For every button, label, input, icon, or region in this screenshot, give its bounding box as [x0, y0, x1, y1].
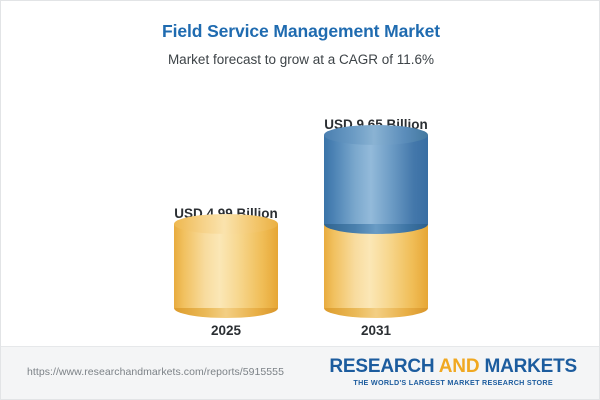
- bar-group-2031[interactable]: USD 9.65 Billion 2031: [296, 76, 456, 346]
- plot-area: USD 4.99 Billion 2025 USD 9.65 Billion: [1, 76, 600, 346]
- logo-tagline: THE WORLD'S LARGEST MARKET RESEARCH STOR…: [329, 378, 577, 387]
- logo-wordmark: RESEARCH AND MARKETS: [329, 357, 577, 377]
- cylinder-body-2025: [174, 224, 278, 308]
- logo-word-markets: MARKETS: [484, 356, 577, 377]
- category-label-2031: 2031: [296, 323, 456, 338]
- cylinder-bar-2025[interactable]: [174, 214, 278, 308]
- footer: https://www.researchandmarkets.com/repor…: [1, 346, 599, 399]
- logo-word-and: AND: [439, 356, 480, 377]
- cylinder-top-cap-2031: [324, 125, 428, 145]
- cylinder-segment-growth-2031: [324, 125, 428, 224]
- research-and-markets-logo[interactable]: RESEARCH AND MARKETS THE WORLD'S LARGEST…: [329, 357, 577, 387]
- report-url[interactable]: https://www.researchandmarkets.com/repor…: [27, 366, 284, 378]
- bar-group-2025[interactable]: USD 4.99 Billion 2025: [146, 76, 306, 346]
- chart-card: Field Service Management Market Market f…: [0, 0, 600, 400]
- category-label-2025: 2025: [146, 323, 306, 338]
- cylinder-top-cap-2025: [174, 214, 278, 234]
- cylinder-bar-2031[interactable]: [324, 125, 428, 308]
- cylinder-body-growth-fill-2031: [324, 135, 428, 224]
- chart-title: Field Service Management Market: [1, 21, 600, 42]
- chart-subtitle: Market forecast to grow at a CAGR of 11.…: [1, 52, 600, 67]
- logo-word-research: RESEARCH: [329, 356, 434, 377]
- cylinder-segment-base-2025: [174, 214, 278, 308]
